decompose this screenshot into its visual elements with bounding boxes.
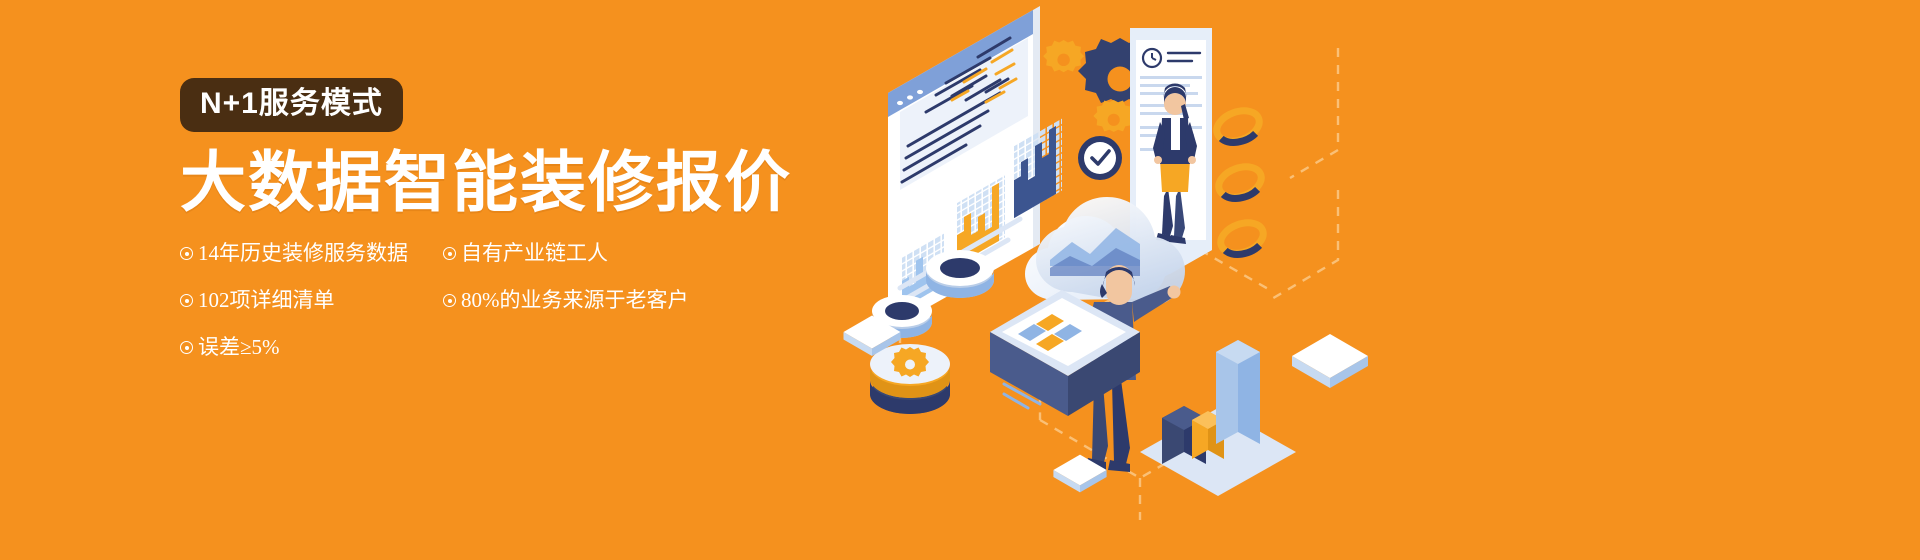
hero-banner: N+1服务模式 大数据智能装修报价 14年历史装修服务数据 102项详细清单 误… xyxy=(0,0,1920,560)
circled-dot-icon xyxy=(180,294,193,307)
bullet-column-left: 14年历史装修服务数据 102项详细清单 误差≥5% xyxy=(180,243,425,384)
list-item-label: 自有产业链工人 xyxy=(461,243,608,264)
isometric-big-data-illustration xyxy=(840,0,1620,560)
list-item-label: 14年历史装修服务数据 xyxy=(198,243,408,264)
list-item-label: 误差≥5% xyxy=(198,337,280,358)
circled-dot-icon xyxy=(443,294,456,307)
circled-dot-icon xyxy=(443,247,456,260)
list-item: 102项详细清单 xyxy=(180,290,425,311)
list-item: 误差≥5% xyxy=(180,337,425,358)
stacked-coins-gold xyxy=(870,344,950,414)
list-item-label: 80%的业务来源于老客户 xyxy=(461,290,689,311)
feature-bullet-list: 14年历史装修服务数据 102项详细清单 误差≥5% 自有产业链工人 xyxy=(180,243,880,384)
check-badge-icon xyxy=(1078,136,1122,180)
service-mode-badge: N+1服务模式 xyxy=(180,78,403,132)
list-item: 80%的业务来源于老客户 xyxy=(443,290,743,311)
circled-dot-icon xyxy=(180,341,193,354)
page-title: 大数据智能装修报价 xyxy=(180,148,880,217)
circled-dot-icon xyxy=(180,247,193,260)
list-item: 自有产业链工人 xyxy=(443,243,743,264)
bullet-column-right: 自有产业链工人 80%的业务来源于老客户 xyxy=(443,243,743,384)
bar-chart-3d xyxy=(1140,340,1296,496)
hero-copy: N+1服务模式 大数据智能装修报价 14年历史装修服务数据 102项详细清单 误… xyxy=(180,78,880,384)
list-item-label: 102项详细清单 xyxy=(198,290,335,311)
list-item: 14年历史装修服务数据 xyxy=(180,243,425,264)
